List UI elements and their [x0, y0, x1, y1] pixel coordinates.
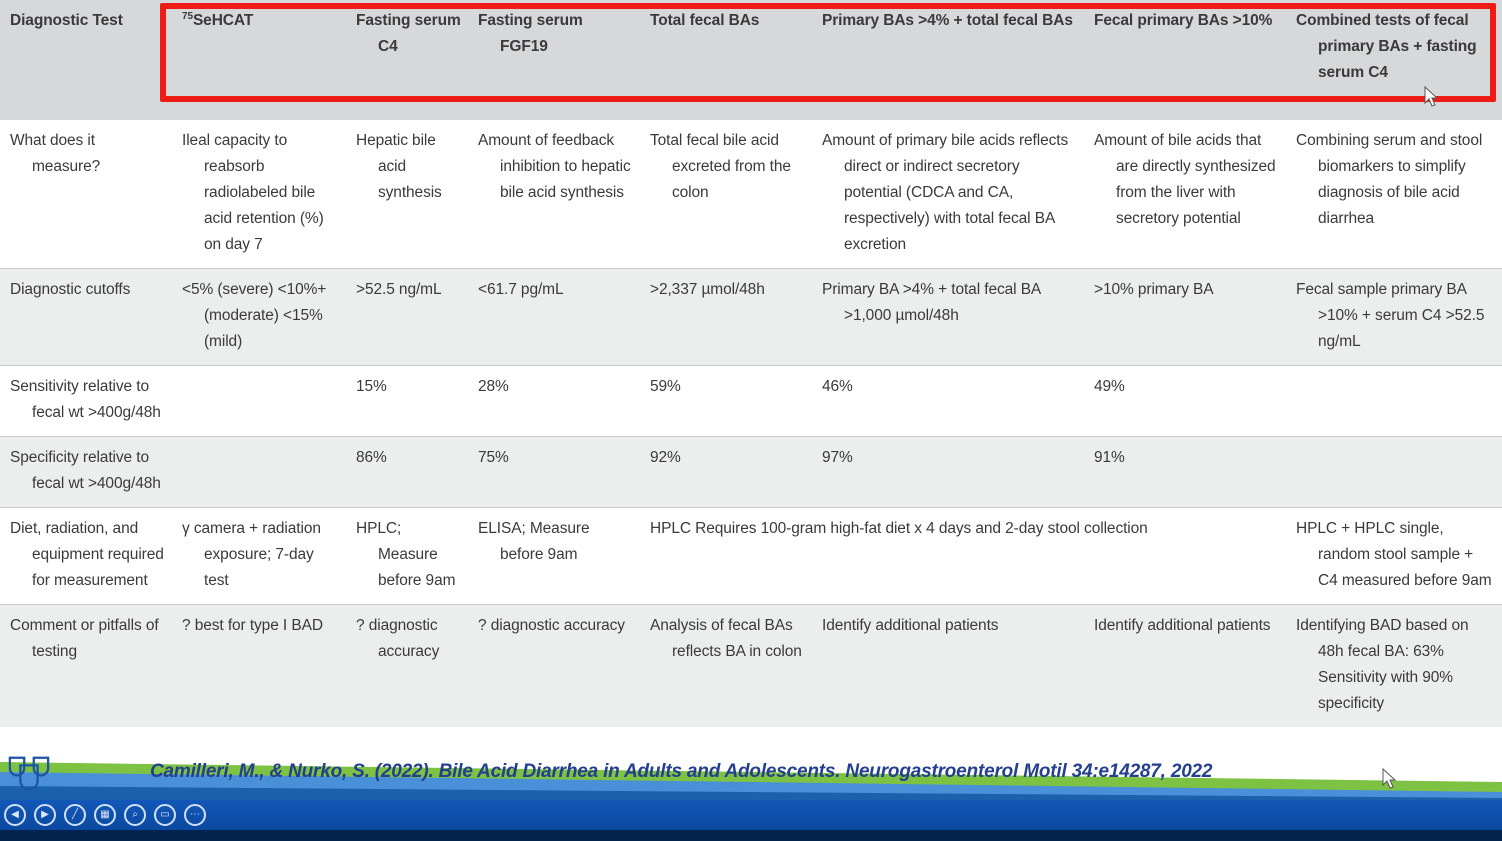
cell: Combining serum and stool biomarkers to …: [1286, 120, 1502, 269]
table-header: Diagnostic Test 75SeHCAT Fasting serum C…: [0, 0, 1502, 120]
cell: Identify additional patients: [1084, 605, 1286, 728]
citation-text: Camilleri, M., & Nurko, S. (2022). Bile …: [150, 761, 1212, 783]
next-glyph: ▶: [41, 810, 49, 820]
table-row: What does it measure? Ileal capacity to …: [0, 120, 1502, 269]
cell: Amount of bile acids that are directly s…: [1084, 120, 1286, 269]
pen-tool-icon[interactable]: ╱: [64, 804, 86, 826]
cell: ? best for type I BAD: [172, 605, 346, 728]
cell: 86%: [346, 437, 468, 508]
cell: >52.5 ng/mL: [346, 269, 468, 366]
row-label: Diagnostic cutoffs: [0, 269, 172, 366]
diagnostic-tests-table: Diagnostic Test 75SeHCAT Fasting serum C…: [0, 0, 1502, 727]
column-header-sehcat: 75SeHCAT: [172, 0, 346, 120]
mouse-cursor: [1424, 86, 1440, 108]
table-header-row: Diagnostic Test 75SeHCAT Fasting serum C…: [0, 0, 1502, 120]
cell: Identify additional patients: [812, 605, 1084, 728]
more-options-icon[interactable]: ⋯: [184, 804, 206, 826]
cell: 28%: [468, 366, 640, 437]
table-row: Specificity relative to fecal wt >400g/4…: [0, 437, 1502, 508]
zoom-tool-icon[interactable]: ⌕: [124, 804, 146, 826]
slide-footer-banner: Camilleri, M., & Nurko, S. (2022). Bile …: [0, 752, 1502, 800]
slide-content: Diagnostic Test 75SeHCAT Fasting serum C…: [0, 0, 1502, 752]
cell: Amount of feedback inhibition to hepatic…: [468, 120, 640, 269]
next-slide-icon[interactable]: ▶: [34, 804, 56, 826]
cell: <61.7 pg/mL: [468, 269, 640, 366]
toolbar-underbar: [0, 830, 1502, 841]
cell: [1286, 437, 1502, 508]
cell: 75%: [468, 437, 640, 508]
cell: Total fecal bile acid excreted from the …: [640, 120, 812, 269]
sehcat-superscript: 75: [182, 11, 193, 22]
cell: 91%: [1084, 437, 1286, 508]
subtitles-icon[interactable]: ▭: [154, 804, 176, 826]
cell: 59%: [640, 366, 812, 437]
cell: Primary BA >4% + total fecal BA >1,000 µ…: [812, 269, 1084, 366]
cell: 97%: [812, 437, 1084, 508]
table-row: Comment or pitfalls of testing ? best fo…: [0, 605, 1502, 728]
cell: Hepatic bile acid synthesis: [346, 120, 468, 269]
mouse-cursor-secondary: [1382, 768, 1398, 790]
cell: 92%: [640, 437, 812, 508]
column-header-fasting-serum-c4: Fasting serum C4: [346, 0, 468, 120]
previous-glyph: ◀: [11, 810, 19, 820]
row-label: Comment or pitfalls of testing: [0, 605, 172, 728]
row-label: Diet, radiation, and equipment required …: [0, 508, 172, 605]
cell: [172, 437, 346, 508]
cell: Analysis of fecal BAs reflects BA in col…: [640, 605, 812, 728]
cell: γ camera + radiation exposure; 7-day tes…: [172, 508, 346, 605]
cell: >10% primary BA: [1084, 269, 1286, 366]
cell: Fecal sample primary BA >10% + serum C4 …: [1286, 269, 1502, 366]
toolbar-strip: [0, 800, 1502, 830]
previous-slide-icon[interactable]: ◀: [4, 804, 26, 826]
cell: ? diagnostic accuracy: [468, 605, 640, 728]
cell: <5% (severe) <10%+ (moderate) <15% (mild…: [172, 269, 346, 366]
pen-glyph: ╱: [72, 810, 78, 820]
column-header-primary-bas-plus-total-fecal: Primary BAs >4% + total fecal BAs: [812, 0, 1084, 120]
cell: ELISA; Measure before 9am: [468, 508, 640, 605]
overview-glyph: ▦: [100, 810, 109, 820]
table-row: Diet, radiation, and equipment required …: [0, 508, 1502, 605]
cell: HPLC; Measure before 9am: [346, 508, 468, 605]
cell: [1286, 366, 1502, 437]
column-header-combined-tests: Combined tests of fecal primary BAs + fa…: [1286, 0, 1502, 120]
cell: 49%: [1084, 366, 1286, 437]
cell: [172, 366, 346, 437]
more-glyph: ⋯: [190, 810, 200, 820]
cell: HPLC + HPLC single, random stool sample …: [1286, 508, 1502, 605]
cell: 15%: [346, 366, 468, 437]
table-row: Diagnostic cutoffs <5% (severe) <10%+ (m…: [0, 269, 1502, 366]
row-label: Specificity relative to fecal wt >400g/4…: [0, 437, 172, 508]
cell: Identifying BAD based on 48h fecal BA: 6…: [1286, 605, 1502, 728]
cell: HPLC Requires 100-gram high-fat diet x 4…: [640, 508, 1286, 605]
row-label: Sensitivity relative to fecal wt >400g/4…: [0, 366, 172, 437]
cell: ? diagnostic accuracy: [346, 605, 468, 728]
cell: >2,337 µmol/48h: [640, 269, 812, 366]
mayo-clinic-shield-logo: [0, 752, 58, 796]
column-header-total-fecal-bas: Total fecal BAs: [640, 0, 812, 120]
column-header-fecal-primary-bas: Fecal primary BAs >10%: [1084, 0, 1286, 120]
cell: Amount of primary bile acids reflects di…: [812, 120, 1084, 269]
table-row: Sensitivity relative to fecal wt >400g/4…: [0, 366, 1502, 437]
column-header-fasting-serum-fgf19: Fasting serum FGF19: [468, 0, 640, 120]
cell: 46%: [812, 366, 1084, 437]
row-label: What does it measure?: [0, 120, 172, 269]
subtitles-glyph: ▭: [160, 810, 169, 820]
zoom-glyph: ⌕: [132, 810, 138, 820]
column-header-diagnostic-test: Diagnostic Test: [0, 0, 172, 120]
sehcat-label: SeHCAT: [193, 12, 253, 29]
cell: Ileal capacity to reabsorb radiolabeled …: [172, 120, 346, 269]
slide-overview-icon[interactable]: ▦: [94, 804, 116, 826]
presentation-slide-view: Diagnostic Test 75SeHCAT Fasting serum C…: [0, 0, 1502, 841]
table-body: What does it measure? Ileal capacity to …: [0, 120, 1502, 727]
presentation-toolbar[interactable]: ◀ ▶ ╱ ▦ ⌕ ▭ ⋯: [0, 800, 1502, 841]
